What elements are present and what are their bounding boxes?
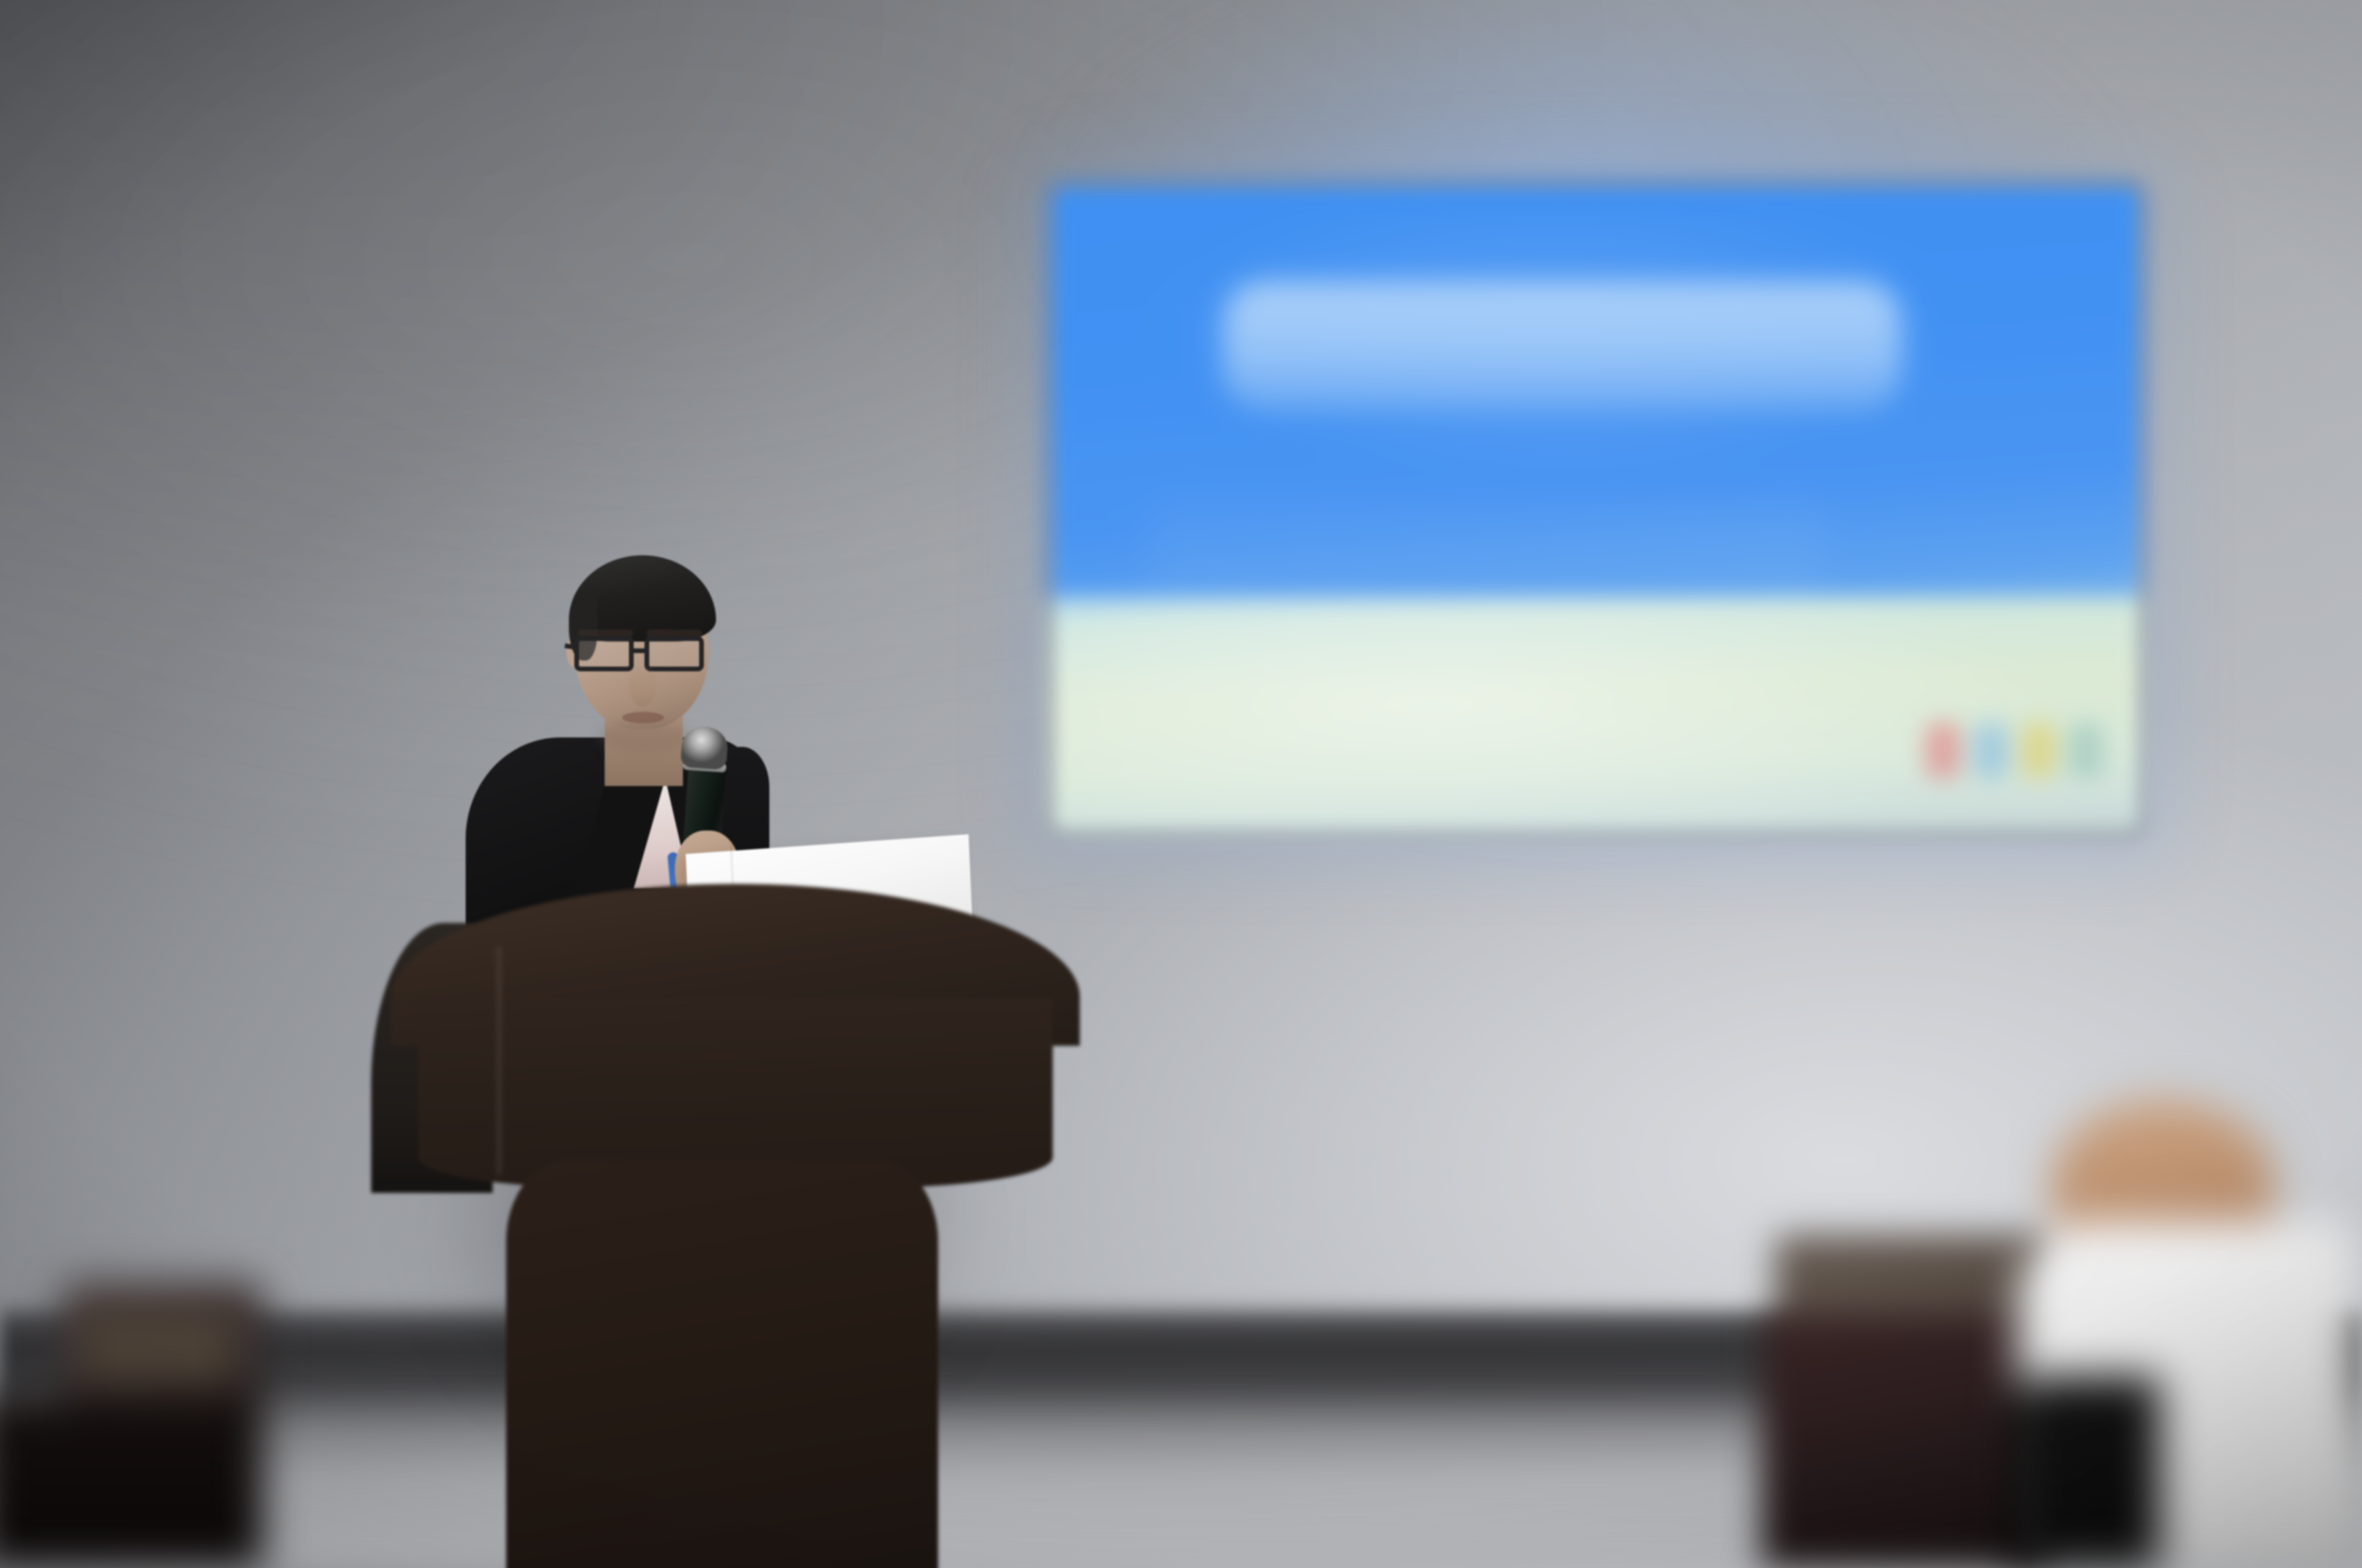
chair-body <box>1761 1316 2045 1568</box>
eyeglass-bridge <box>634 648 649 653</box>
projection-screen-frame <box>1045 179 2147 839</box>
podium-column <box>506 1160 938 1568</box>
podium-lectern <box>378 843 1093 1568</box>
foreground-chair-left <box>0 1262 358 1568</box>
audience-dark-arm <box>2011 1376 2160 1568</box>
chin-shadow <box>598 721 692 752</box>
podium-front-face <box>418 999 1053 1187</box>
photograph-scene: Conference speaker at podium with projec… <box>0 0 2362 1568</box>
chair-pad <box>81 1309 236 1383</box>
nose <box>629 665 656 706</box>
foreground-audience-member <box>2011 1093 2362 1568</box>
eyeglass-lens-right <box>644 636 704 671</box>
podium-edge-seam <box>497 946 501 1175</box>
eyeglass-lens-left <box>574 636 634 671</box>
chair-seat <box>0 1397 263 1568</box>
